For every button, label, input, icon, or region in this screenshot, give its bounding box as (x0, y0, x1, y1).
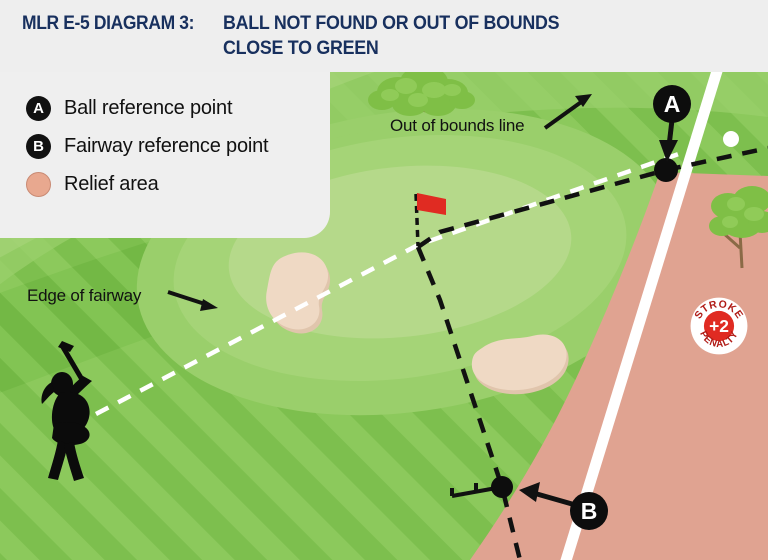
legend-label-relief-area: Relief area (64, 173, 159, 196)
legend-marker-a-icon: A (26, 96, 51, 121)
legend-item-relief-area: Relief area (26, 170, 330, 199)
point-a-dot (654, 158, 678, 182)
golf-ball-icon (723, 131, 739, 147)
relief-area-swatch-icon (26, 172, 51, 197)
legend-label-fairway-reference-point: Fairway reference point (64, 135, 268, 158)
header-title-line-2: CLOSE TO GREEN (223, 36, 559, 61)
badge-value: +2 (709, 316, 729, 336)
marker-b-badge: B (570, 492, 608, 530)
annotation-out-of-bounds-line: Out of bounds line (390, 116, 524, 136)
header-bar: MLR E-5 DIAGRAM 3: BALL NOT FOUND OR OUT… (0, 0, 768, 72)
annotation-edge-of-fairway: Edge of fairway (27, 286, 141, 306)
legend-marker-b-icon: B (26, 134, 51, 159)
header-title-line-1: BALL NOT FOUND OR OUT OF BOUNDS (223, 11, 559, 36)
legend-item-ball-reference-point: A Ball reference point (26, 94, 330, 123)
header-kicker: MLR E-5 DIAGRAM 3: (22, 11, 194, 61)
point-b-dot (491, 476, 513, 498)
legend-item-fairway-reference-point: B Fairway reference point (26, 132, 330, 161)
legend-label-ball-reference-point: Ball reference point (64, 97, 232, 120)
legend-panel: A Ball reference point B Fairway referen… (0, 72, 330, 238)
diagram-canvas: MLR E-5 DIAGRAM 3: BALL NOT FOUND OR OUT… (0, 0, 768, 560)
stroke-penalty-badge: STROKE PENALTY +2 (690, 297, 748, 355)
marker-a-badge: A (653, 85, 691, 123)
